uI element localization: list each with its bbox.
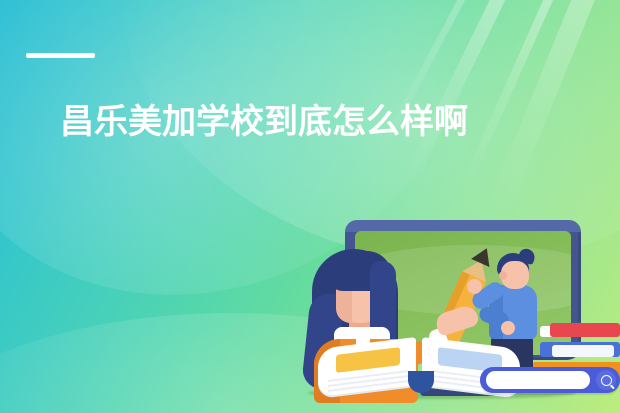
background-light-ray	[401, 0, 523, 188]
page-title: 昌乐美加学校到底怎么样啊	[60, 100, 580, 144]
student-upper-arm-group	[475, 247, 565, 397]
education-illustration	[300, 195, 620, 413]
search-button[interactable]	[596, 370, 616, 390]
background-light-ray	[460, 0, 566, 191]
title-accent-dash	[26, 53, 95, 58]
search-icon	[601, 375, 612, 386]
student-upper-hand	[467, 279, 482, 294]
open-book-spine	[408, 371, 434, 393]
article-cover-banner: 昌乐美加学校到底怎么样啊	[0, 0, 620, 413]
